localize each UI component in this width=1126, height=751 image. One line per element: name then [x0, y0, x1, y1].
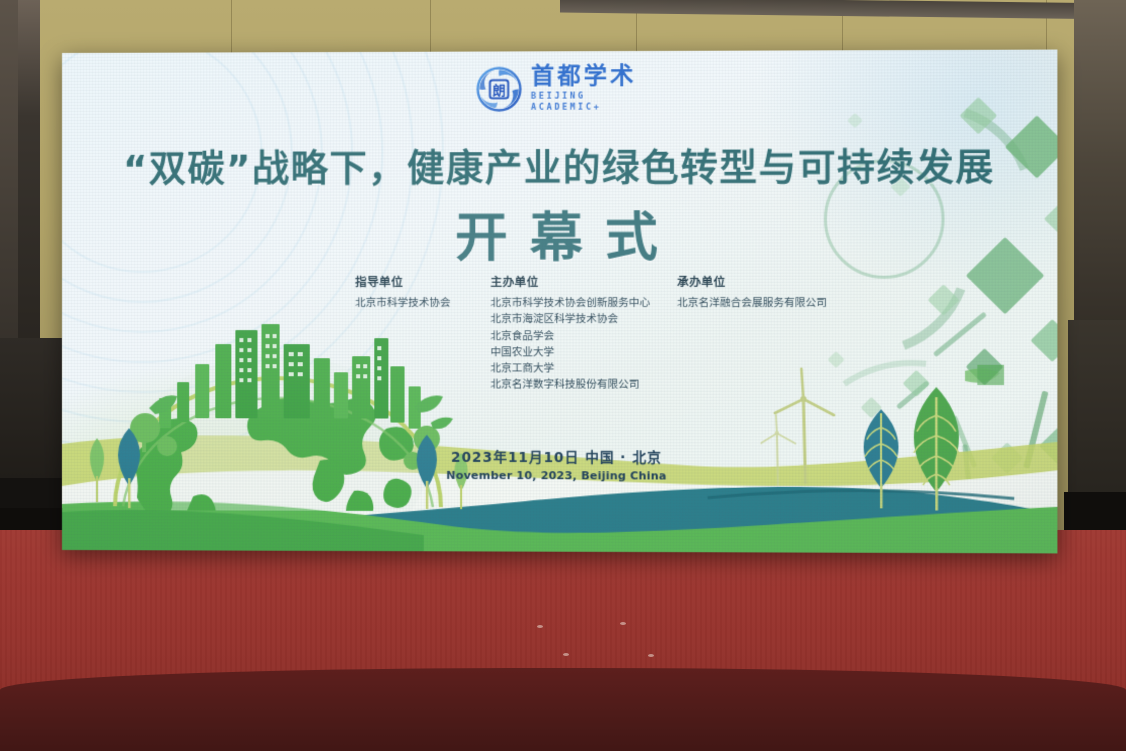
organizer-item: 北京市科学技术协会 — [355, 295, 490, 311]
beijing-academic-swirl-emblem: 朗 — [476, 67, 522, 112]
floor-speck — [620, 622, 626, 625]
event-subtitle-ceremony: 开幕式 — [62, 195, 1057, 271]
organizer-item: 北京名洋融合会展服务有限公司 — [677, 295, 881, 311]
organizer-heading: 指导单位 — [355, 274, 490, 290]
stage-front-edge — [0, 668, 1126, 751]
logo-english-line1: BEIJING — [531, 91, 586, 101]
logo-chinese-name: 首都学术 — [531, 65, 636, 88]
led-backdrop-screen: 朗 首都学术 BEIJING ACADEMIC+ “双碳”战略下，健康产业的绿色… — [62, 50, 1057, 554]
organizer-column-guidance: 指导单位 北京市科学技术协会 — [355, 274, 490, 393]
right-wall-dark — [1074, 0, 1126, 330]
floor-speck — [648, 654, 654, 657]
organizer-heading: 承办单位 — [677, 274, 881, 290]
date-chinese: 2023年11月10日 中国 · 北京 — [62, 445, 1057, 467]
svg-text:朗: 朗 — [492, 83, 505, 99]
organizer-heading: 主办单位 — [490, 274, 677, 290]
stage-floor — [0, 530, 1126, 690]
date-english: November 10, 2023, Beijing China — [62, 468, 1057, 483]
organizer-column-undertaker: 承办单位 北京名洋融合会展服务有限公司 — [677, 274, 881, 394]
logo-english-line2: ACADEMIC+ — [531, 102, 601, 112]
organizer-columns: 指导单位 北京市科学技术协会 主办单位 北京市科学技术协会创新服务中心 北京市海… — [355, 274, 881, 394]
organizer-item: 北京市海淀区科学技术协会 — [490, 311, 677, 327]
organizer-item: 中国农业大学 — [490, 344, 677, 361]
event-date-location: 2023年11月10日 中国 · 北京 November 10, 2023, B… — [62, 445, 1057, 483]
organizer-item: 北京市科学技术协会创新服务中心 — [490, 295, 677, 311]
event-logo: 朗 首都学术 BEIJING ACADEMIC+ — [62, 64, 1057, 115]
wall-seam — [430, 0, 431, 58]
logo-english-name: BEIJING ACADEMIC+ — [531, 91, 636, 113]
floor-speck — [563, 653, 569, 656]
wall-seam — [231, 0, 232, 58]
event-main-title: “双碳”战略下，健康产业的绿色转型与可持续发展 — [62, 137, 1057, 193]
organizer-item: 北京工商大学 — [490, 360, 677, 377]
organizer-item: 北京名洋数字科技股份有限公司 — [490, 377, 677, 394]
organizer-column-host: 主办单位 北京市科学技术协会创新服务中心 北京市海淀区科学技术协会 北京食品学会… — [490, 274, 677, 394]
floor-speck — [537, 625, 543, 628]
organizer-item: 北京食品学会 — [490, 328, 677, 344]
